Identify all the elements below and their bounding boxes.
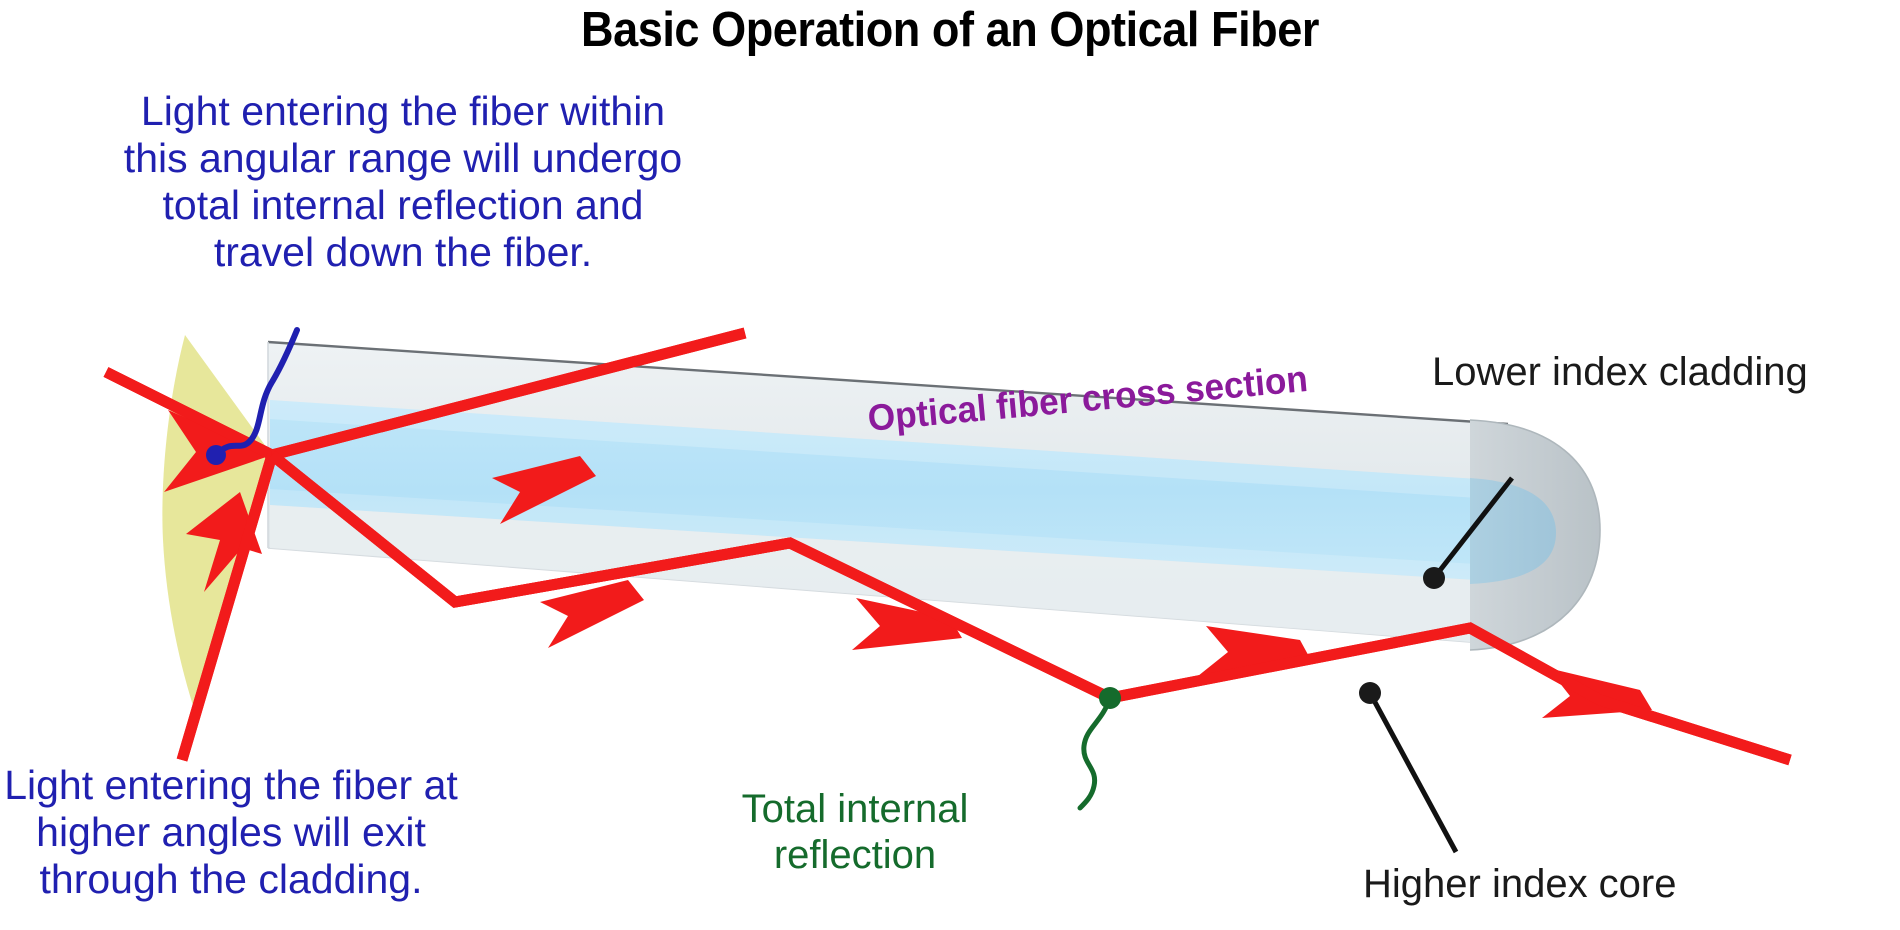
tir-leader (1080, 687, 1121, 808)
lower-index-cladding-label: Lower index cladding (1432, 350, 1808, 395)
escape-angle-note: Light entering the fiber at higher angle… (0, 762, 466, 903)
core-dot (1359, 682, 1381, 704)
higher-index-core-label: Higher index core (1363, 862, 1677, 907)
acceptance-angle-note: Light entering the fiber within this ang… (108, 88, 698, 276)
total-internal-reflection-label: Total internal reflection (660, 786, 1050, 878)
core-leader (1359, 682, 1456, 852)
acceptance-note-dot (206, 445, 226, 465)
page-title: Basic Operation of an Optical Fiber (76, 2, 1824, 58)
diagram-canvas: Basic Operation of an Optical Fiber Ligh… (0, 0, 1900, 930)
tir-dot (1099, 687, 1121, 709)
cladding-dot (1423, 567, 1445, 589)
fiber-end-cap (1470, 420, 1600, 650)
